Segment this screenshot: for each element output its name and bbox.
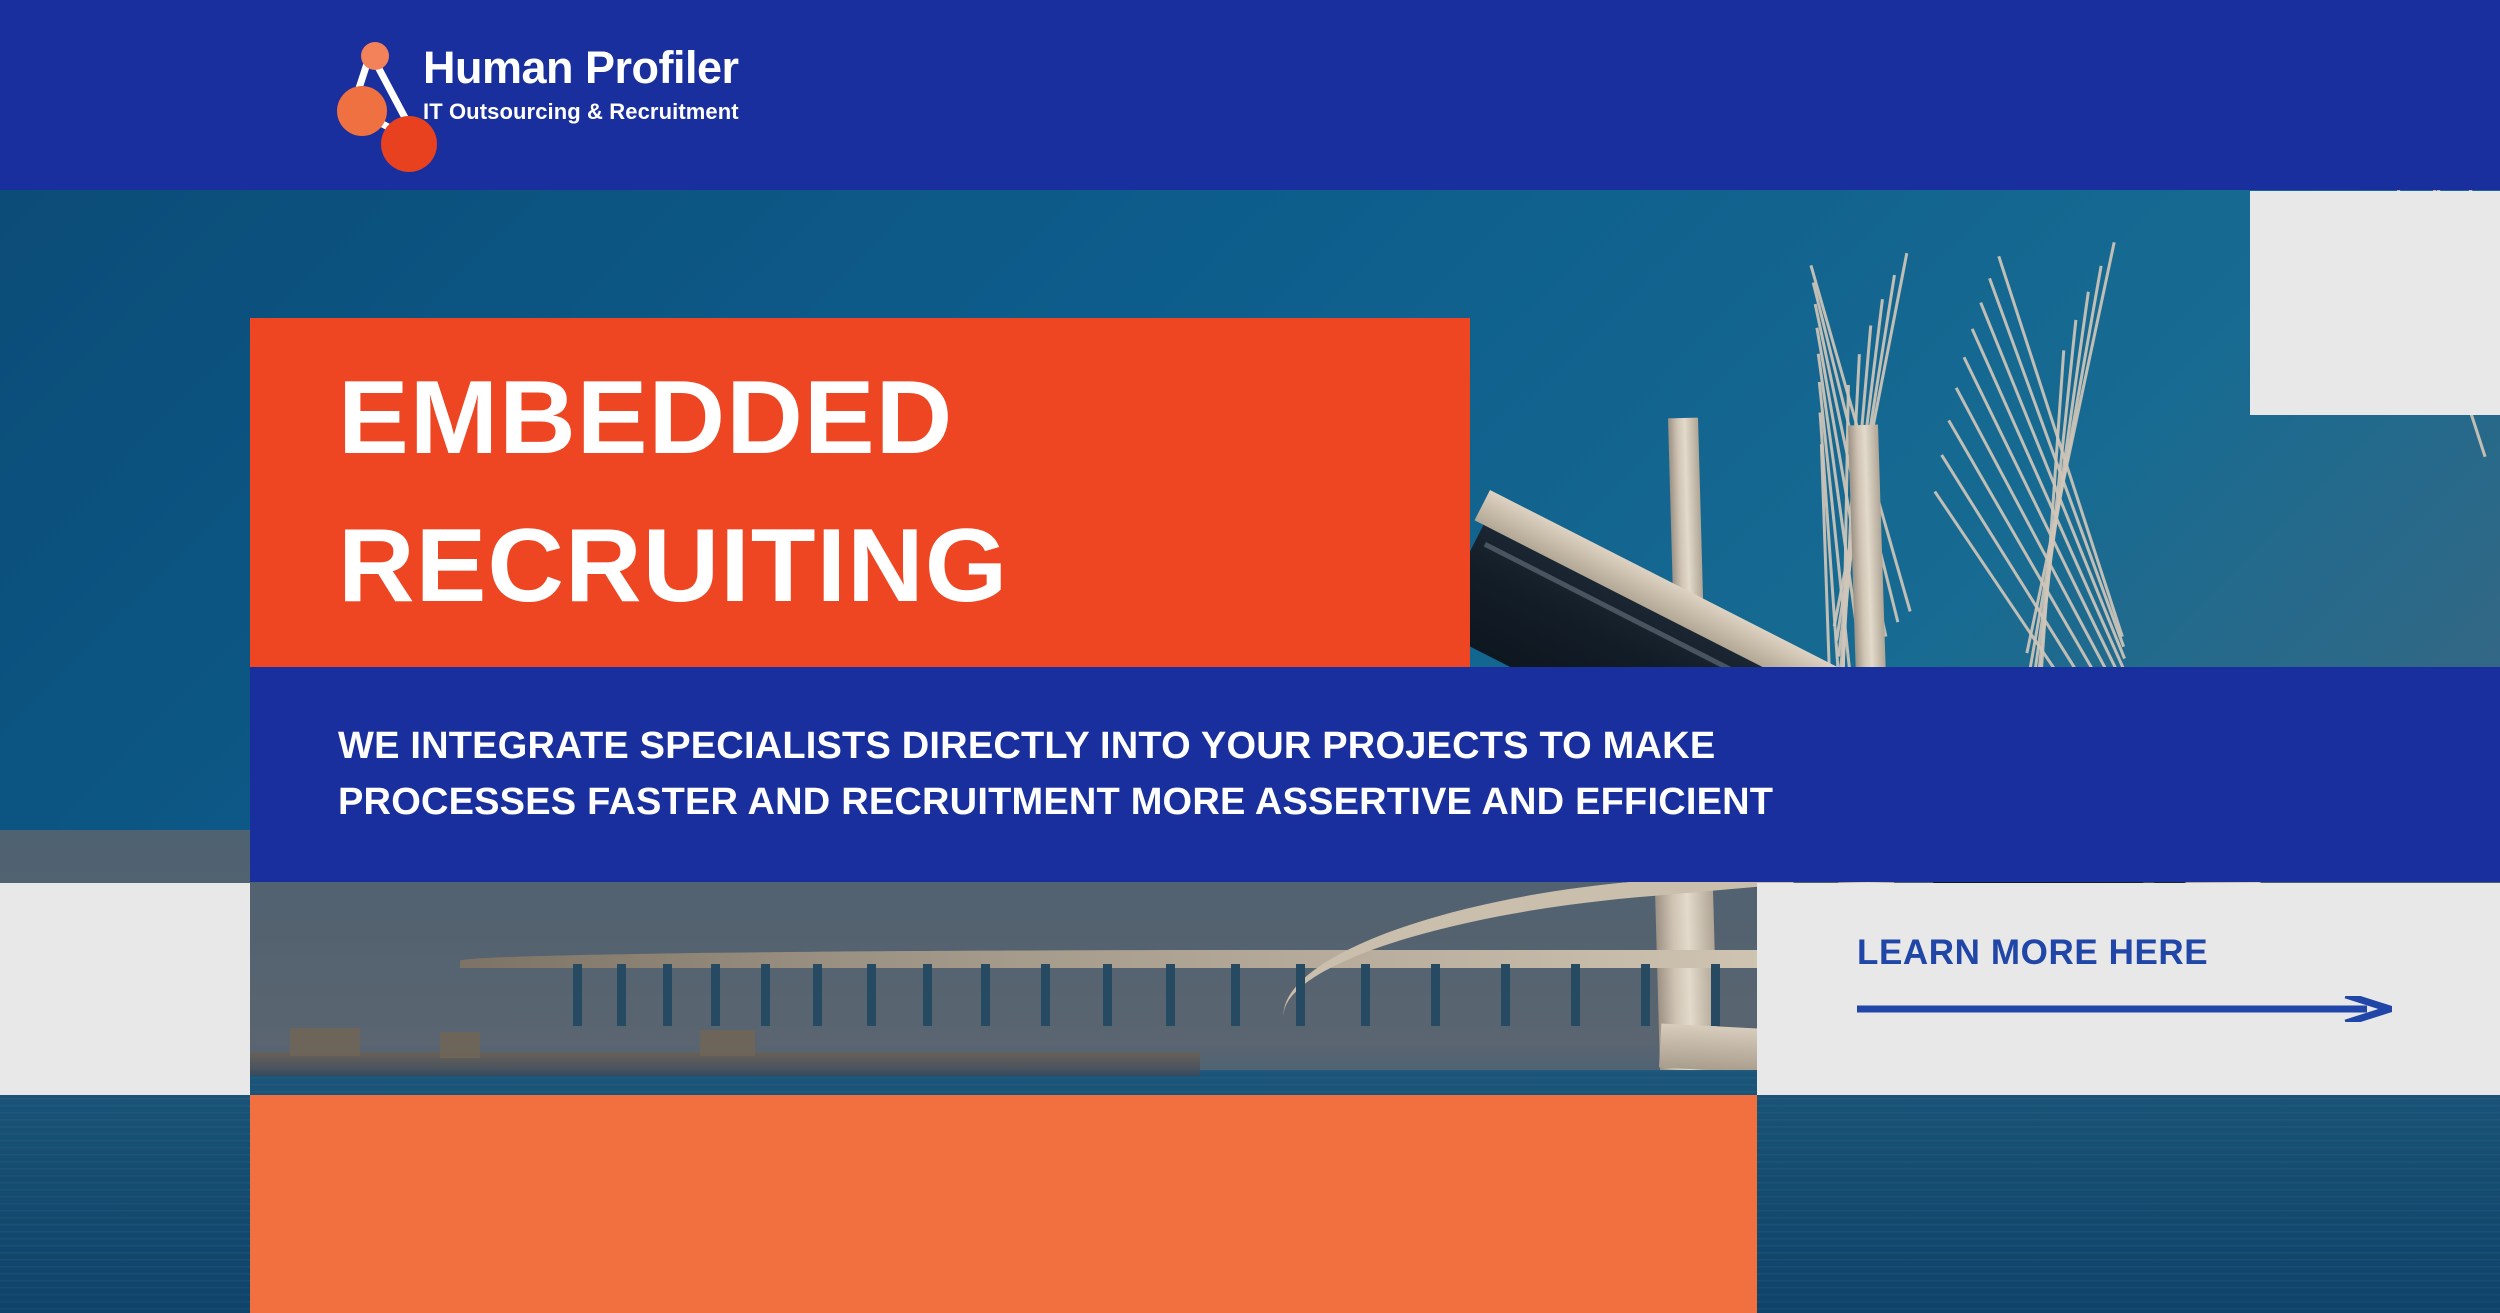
decorative-orange-block [250, 1095, 1757, 1313]
arrow-right-icon[interactable] [1857, 996, 2392, 1022]
brand-tagline: IT Outsourcing & Recruitment [423, 99, 739, 125]
subheadline-line-1: WE INTEGRATE SPECIALISTS DIRECTLY INTO Y… [338, 719, 2500, 774]
site-header: Human Profiler IT Outsourcing & Recruitm… [0, 0, 2500, 190]
brand-logo[interactable]: Human Profiler IT Outsourcing & Recruitm… [337, 42, 739, 128]
decorative-grey-band-left [0, 883, 250, 1095]
subheadline-line-2: PROCESSES FASTER AND RECRUITMENT MORE AS… [338, 775, 2500, 830]
headline-block: EMBEDDED RECRUITING [250, 318, 1470, 668]
network-nodes-icon [337, 42, 409, 128]
subheadline-band: WE INTEGRATE SPECIALISTS DIRECTLY INTO Y… [250, 667, 2500, 882]
headline-line-2: RECRUITING [338, 493, 1493, 641]
brand-name: Human Profiler [423, 45, 739, 90]
cta-panel[interactable]: LEARN MORE HERE [1757, 883, 2500, 1095]
headline-line-1: EMBEDDED [338, 345, 1493, 493]
cta-label[interactable]: LEARN MORE HERE [1857, 935, 2397, 970]
decorative-grey-block [2250, 191, 2500, 415]
hero-banner: Human Profiler IT Outsourcing & Recruitm… [0, 0, 2500, 1313]
